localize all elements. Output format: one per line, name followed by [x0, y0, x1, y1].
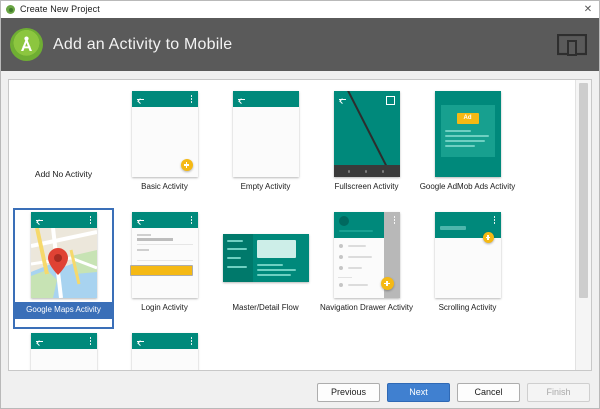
window-title: Create New Project [20, 4, 581, 15]
template-card-admob-activity[interactable]: Ad Google AdMob Ads Activity [417, 87, 518, 208]
template-label: Empty Activity [215, 182, 316, 192]
template-card-empty-activity[interactable]: Empty Activity [215, 87, 316, 208]
template-label: Navigation Drawer Activity [316, 303, 417, 313]
back-arrow-icon [339, 96, 346, 102]
template-thumbnail-masterdetail [221, 212, 311, 298]
fab-icon [181, 159, 193, 171]
overflow-menu-icon [90, 337, 92, 345]
overflow-menu-icon [191, 216, 193, 224]
overflow-menu-icon [90, 216, 92, 224]
fab-icon [381, 277, 394, 290]
template-label: Basic Activity [114, 182, 215, 192]
mobile-device-icon [557, 34, 587, 56]
content-area: Add No Activity Basic Activity [1, 71, 599, 378]
android-studio-icon [6, 5, 15, 14]
overflow-menu-icon [394, 216, 396, 224]
template-thumbnail-empty [233, 91, 299, 177]
back-arrow-icon [238, 96, 245, 102]
template-label: Google AdMob Ads Activity [417, 182, 518, 192]
template-card-login-activity[interactable]: Login Activity [114, 208, 215, 329]
back-arrow-icon [36, 217, 43, 223]
template-row-partial [13, 329, 571, 370]
template-row: Add No Activity Basic Activity [13, 87, 571, 208]
template-label: Add No Activity [35, 169, 92, 179]
template-card-google-maps-activity[interactable]: Google Maps Activity [13, 208, 114, 329]
template-card-scrolling-activity[interactable]: Scrolling Activity [417, 208, 518, 329]
back-arrow-icon [137, 96, 144, 102]
template-grid: Add No Activity Basic Activity [9, 80, 575, 370]
create-new-project-dialog: Create New Project ✕ Add an Activity to … [0, 0, 600, 409]
previous-button[interactable]: Previous [317, 383, 380, 402]
next-button[interactable]: Next [387, 383, 450, 402]
template-thumbnail-maps [31, 212, 97, 298]
back-arrow-icon [137, 338, 144, 344]
avatar [339, 216, 349, 226]
template-label: Login Activity [114, 303, 215, 313]
template-card-master-detail-flow[interactable]: Master/Detail Flow [215, 208, 316, 329]
template-label: Fullscreen Activity [316, 182, 417, 192]
dialog-footer: Previous Next Cancel Finish [1, 378, 599, 408]
overflow-menu-icon [191, 95, 193, 103]
scrollbar-thumb[interactable] [579, 83, 588, 298]
finish-button: Finish [527, 383, 590, 402]
template-card-add-no-activity[interactable]: Add No Activity [13, 87, 114, 208]
template-thumbnail-partial [31, 333, 97, 370]
template-card-navigation-drawer-activity[interactable]: Navigation Drawer Activity [316, 208, 417, 329]
template-card-partial-2[interactable] [114, 329, 215, 370]
map-preview [31, 228, 97, 298]
back-arrow-icon [36, 338, 43, 344]
template-card-partial-1[interactable] [13, 329, 114, 370]
template-label: Google Maps Activity [15, 302, 112, 319]
ad-badge: Ad [457, 113, 479, 124]
gallery-scrollbar[interactable] [575, 80, 591, 370]
page-title: Add an Activity to Mobile [53, 36, 232, 54]
template-thumbnail-scrolling [435, 212, 501, 298]
template-card-basic-activity[interactable]: Basic Activity [114, 87, 215, 208]
template-thumbnail-login [132, 212, 198, 298]
fab-icon [483, 232, 494, 243]
template-row: Google Maps Activity [13, 208, 571, 329]
fullscreen-expand-icon [386, 96, 395, 105]
overflow-menu-icon [191, 337, 193, 345]
template-label: Scrolling Activity [417, 303, 518, 313]
android-studio-logo-icon [10, 28, 43, 61]
window-title-bar: Create New Project ✕ [1, 1, 599, 18]
back-arrow-icon [137, 217, 144, 223]
overflow-menu-icon [494, 216, 496, 224]
activity-template-gallery: Add No Activity Basic Activity [8, 79, 592, 371]
cancel-button[interactable]: Cancel [457, 383, 520, 402]
close-icon[interactable]: ✕ [581, 3, 595, 16]
dialog-header: Add an Activity to Mobile [1, 18, 599, 71]
template-label: Master/Detail Flow [215, 303, 316, 313]
template-thumbnail-admob: Ad [435, 91, 501, 177]
template-card-fullscreen-activity[interactable]: Fullscreen Activity [316, 87, 417, 208]
template-thumbnail-navdrawer [334, 212, 400, 298]
template-thumbnail-fullscreen [334, 91, 400, 177]
template-thumbnail-basic [132, 91, 198, 177]
template-thumbnail-partial [132, 333, 198, 370]
